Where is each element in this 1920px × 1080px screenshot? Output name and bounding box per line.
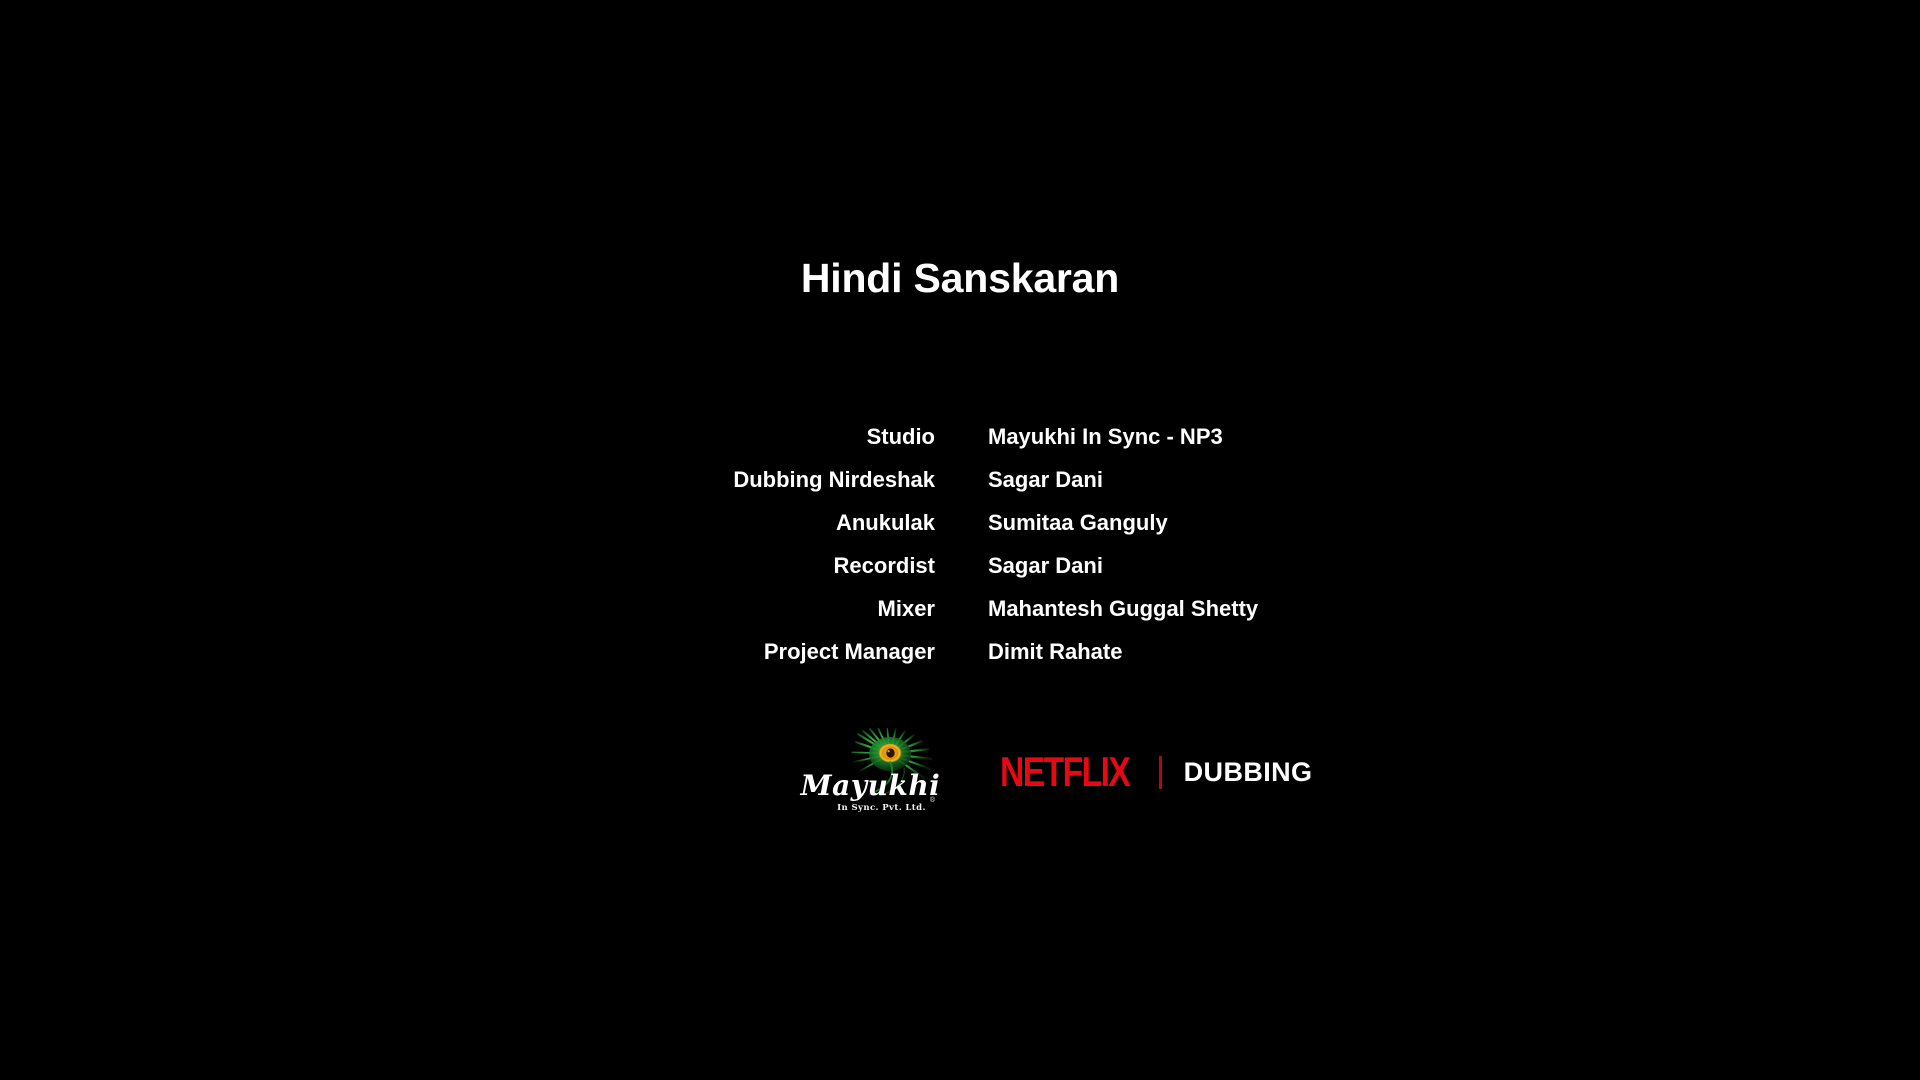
credits-card: Hindi Sanskaran Studio Mayukhi In Sync -… bbox=[0, 0, 1920, 1080]
credit-role-label: Recordist bbox=[0, 553, 935, 579]
credit-role-label: Project Manager bbox=[0, 639, 935, 665]
netflix-dubbing-logo: NETFLIX DUBBING bbox=[1000, 750, 1312, 794]
mayukhi-wordmark: Mayukhi bbox=[798, 772, 943, 800]
netflix-wordmark: NETFLIX bbox=[1000, 751, 1129, 792]
mayukhi-tagline: In Sync. Pvt. Ltd. bbox=[820, 804, 943, 813]
page-title: Hindi Sanskaran bbox=[0, 256, 1920, 301]
credit-role-value: Sagar Dani bbox=[988, 467, 1103, 493]
logo-divider bbox=[1159, 756, 1162, 789]
table-row: Mixer Mahantesh Guggal Shetty bbox=[0, 596, 1920, 639]
table-row: Recordist Sagar Dani bbox=[0, 553, 1920, 596]
table-row: Anukulak Sumitaa Ganguly bbox=[0, 510, 1920, 553]
credits-table: Studio Mayukhi In Sync - NP3 Dubbing Nir… bbox=[0, 424, 1920, 682]
logo-strip: Mayukhi In Sync. Pvt. Ltd. ® NETFLIX DUB… bbox=[0, 728, 1920, 828]
table-row: Dubbing Nirdeshak Sagar Dani bbox=[0, 467, 1920, 510]
credit-role-label: Mixer bbox=[0, 596, 935, 622]
credit-role-label: Studio bbox=[0, 424, 935, 450]
credit-role-value: Mahantesh Guggal Shetty bbox=[988, 596, 1258, 622]
credit-role-value: Mayukhi In Sync - NP3 bbox=[988, 424, 1223, 450]
credit-role-value: Sumitaa Ganguly bbox=[988, 510, 1168, 536]
credit-role-label: Anukulak bbox=[0, 510, 935, 536]
table-row: Studio Mayukhi In Sync - NP3 bbox=[0, 424, 1920, 467]
mayukhi-studio-logo: Mayukhi In Sync. Pvt. Ltd. ® bbox=[798, 728, 943, 824]
dubbing-wordmark: DUBBING bbox=[1184, 759, 1313, 786]
credit-role-label: Dubbing Nirdeshak bbox=[0, 467, 935, 493]
mayukhi-trademark-icon: ® bbox=[929, 796, 936, 804]
credit-role-value: Dimit Rahate bbox=[988, 639, 1122, 665]
credit-role-value: Sagar Dani bbox=[988, 553, 1103, 579]
table-row: Project Manager Dimit Rahate bbox=[0, 639, 1920, 682]
